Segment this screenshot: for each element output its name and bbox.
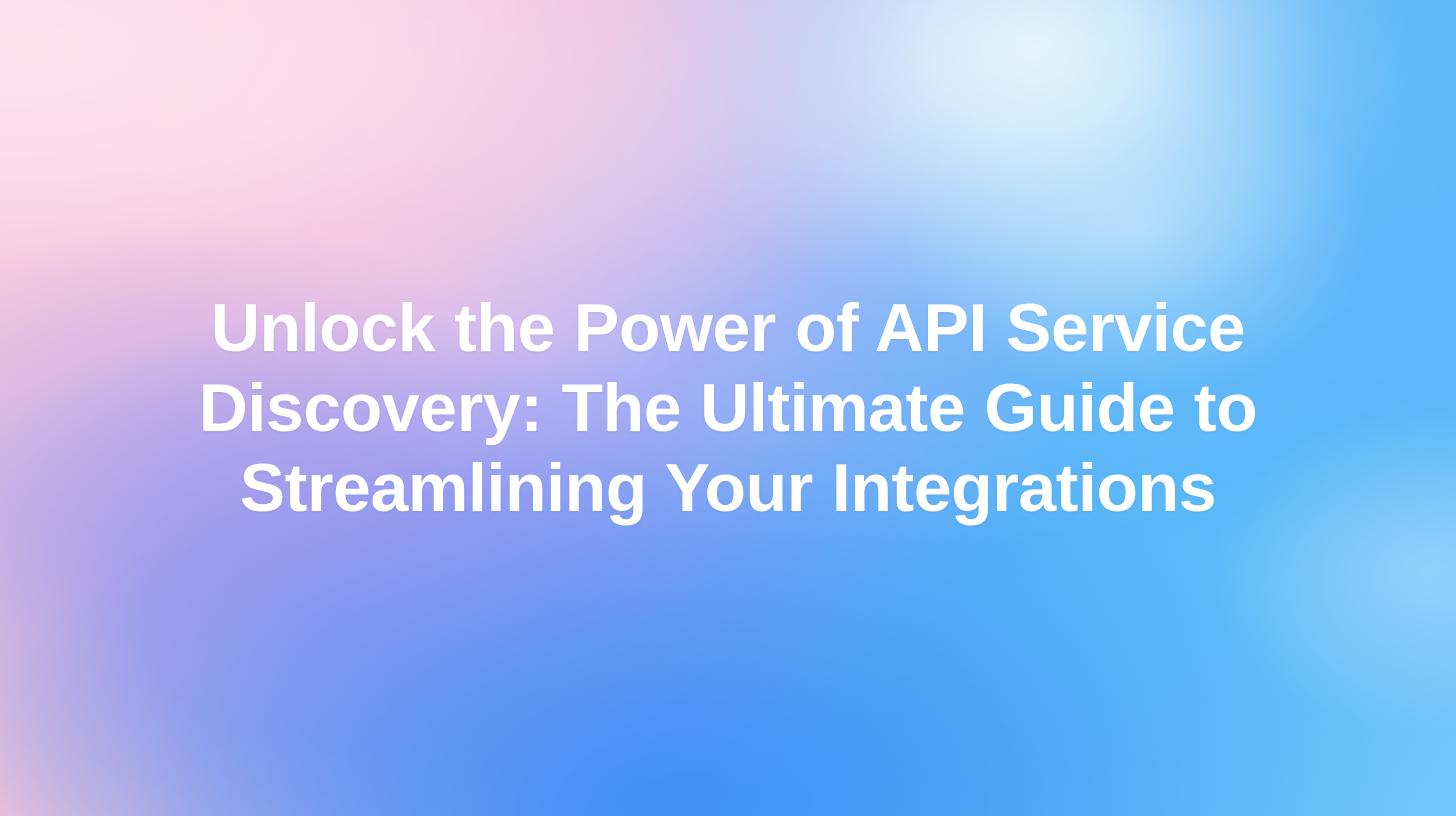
hero-title-block: Unlock the Power of API Service Discover… — [0, 0, 1456, 816]
hero-banner: Unlock the Power of API Service Discover… — [0, 0, 1456, 816]
hero-title: Unlock the Power of API Service Discover… — [163, 288, 1293, 528]
